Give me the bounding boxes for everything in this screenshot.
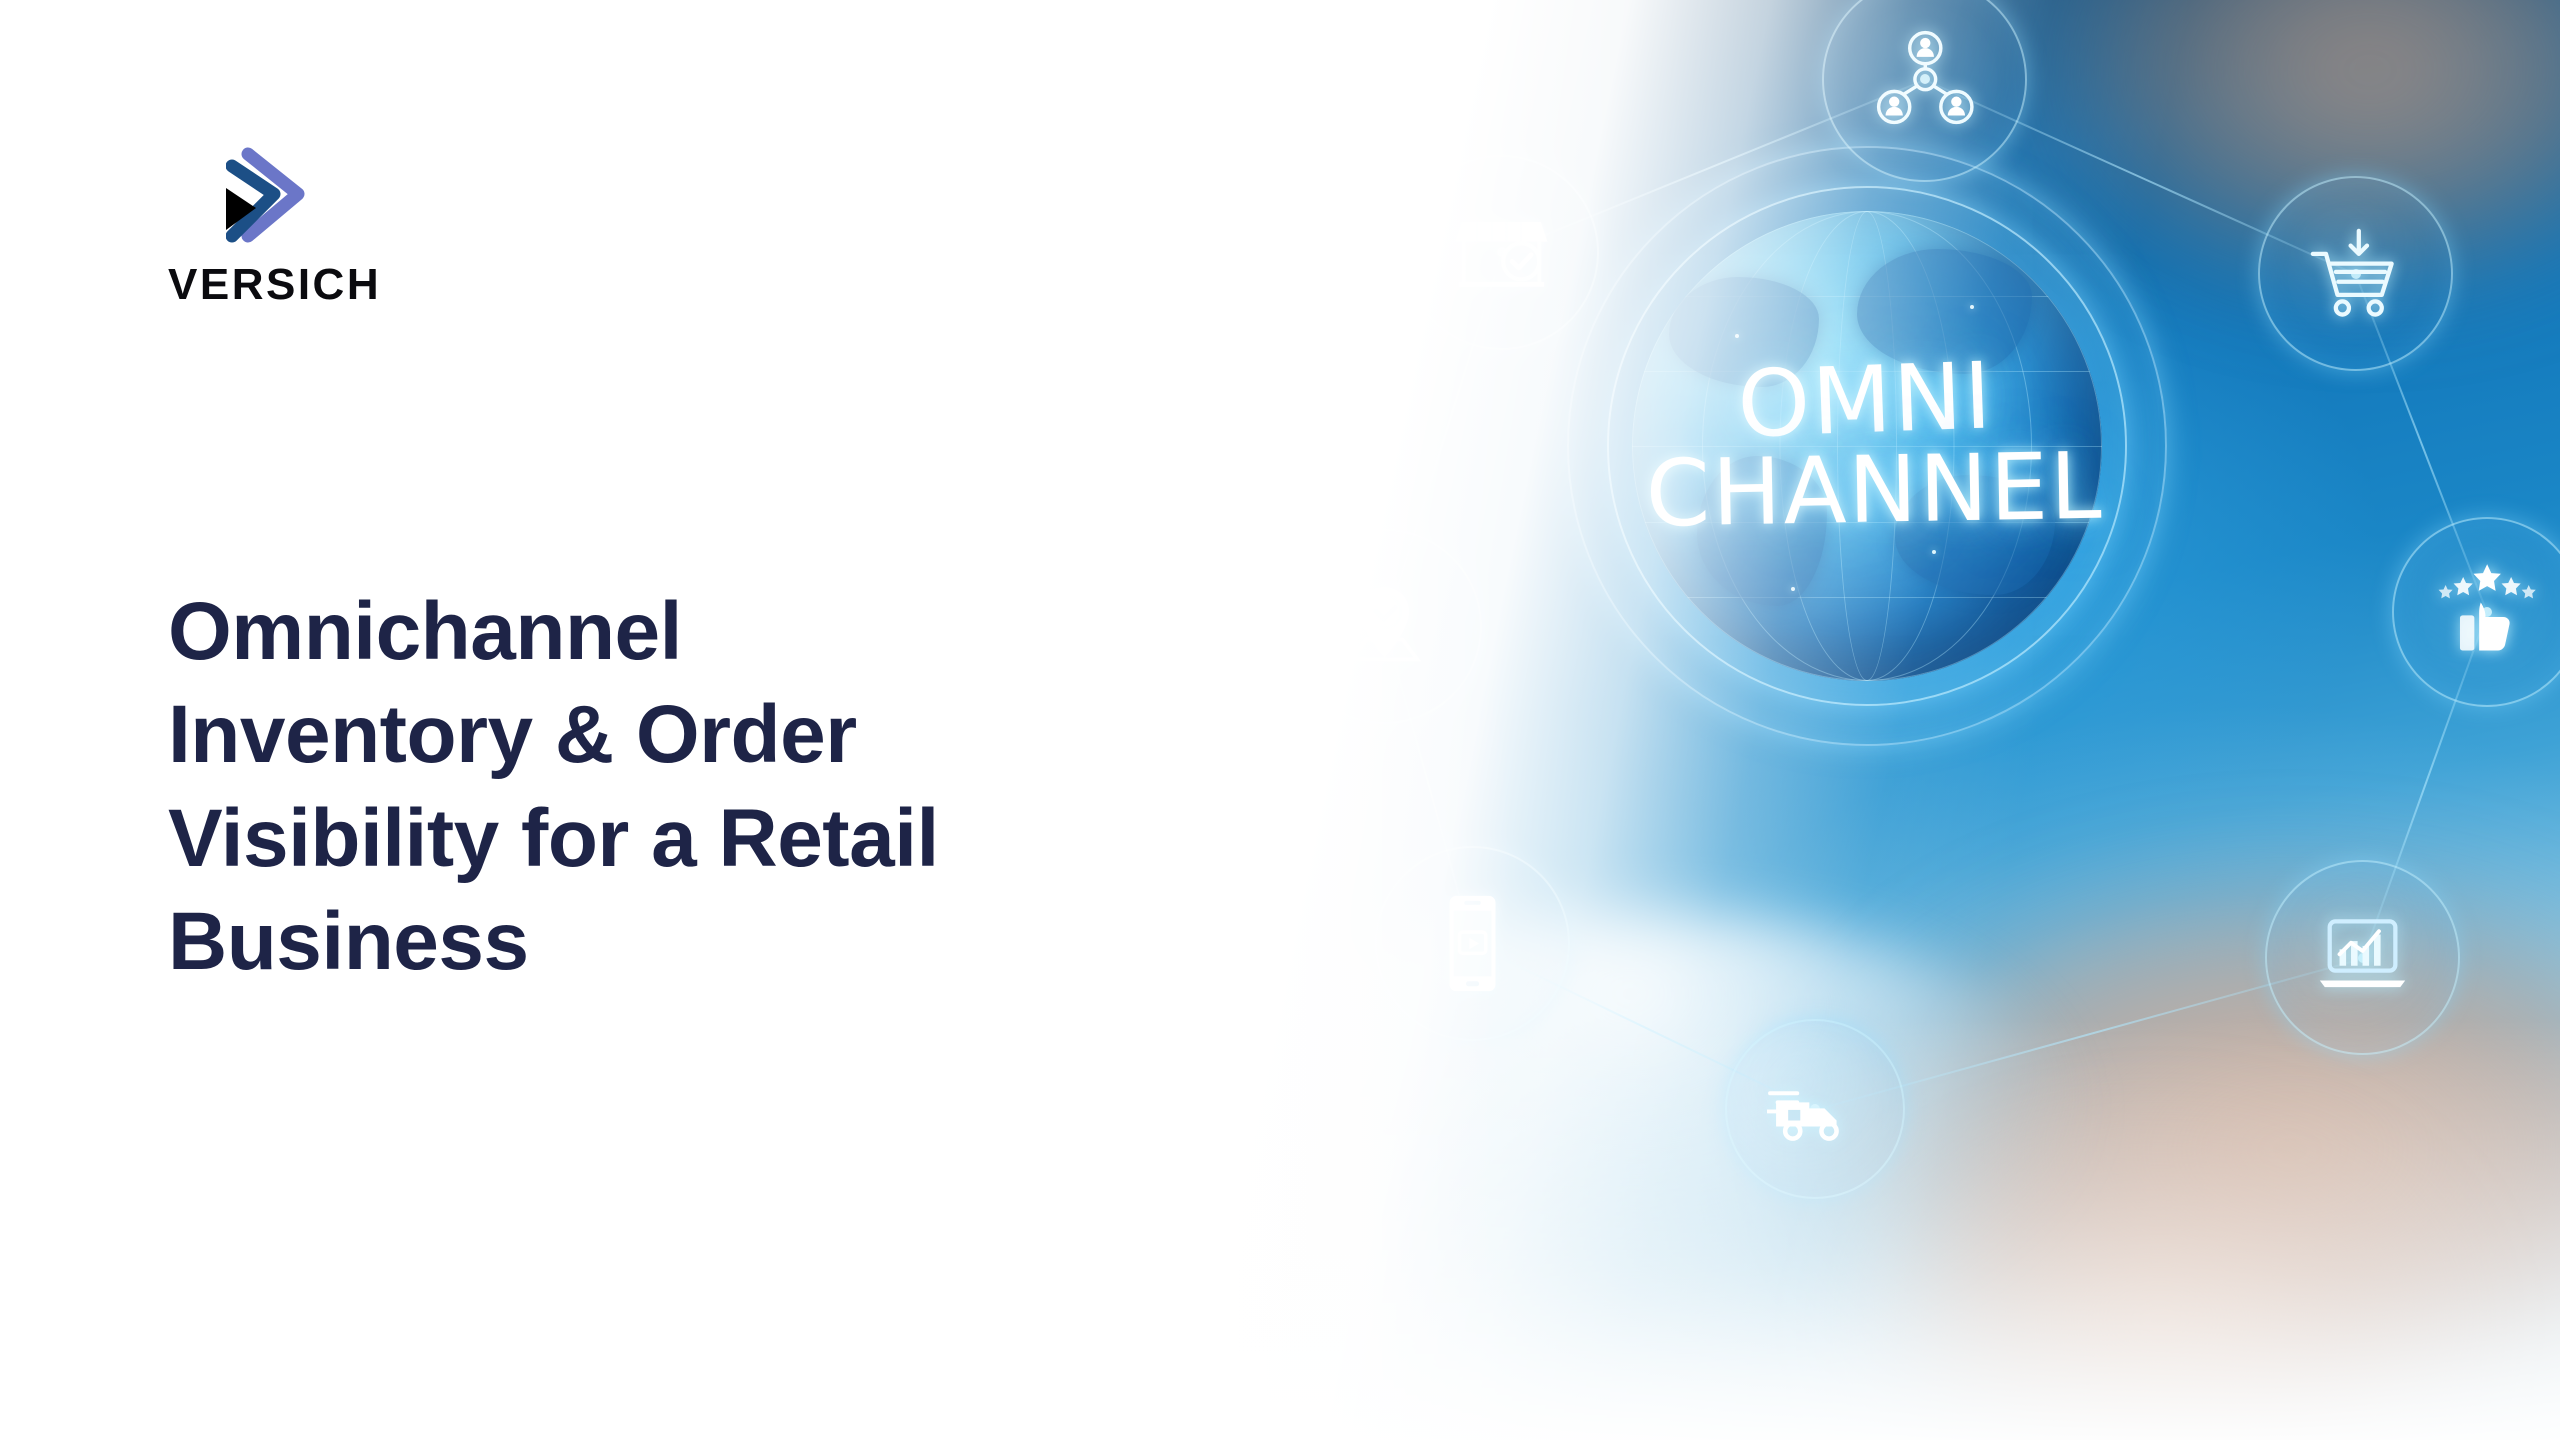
page-title: Omnichannel Inventory & Order Visibility… [168, 580, 1288, 993]
shopping-cart-download-icon [2303, 221, 2408, 326]
laptop-analytics-icon [2310, 905, 2415, 1010]
palm-glow [1180, 910, 2080, 1330]
headline-line-1: Omnichannel [168, 580, 1288, 683]
node-store-locator [1287, 529, 1482, 724]
headline-line-2: Inventory & Order [168, 683, 1288, 786]
location-pin-check-icon [1332, 574, 1437, 679]
globe-parallel [1632, 597, 2102, 598]
globe-spark [1791, 587, 1795, 591]
node-online-cart [2258, 176, 2453, 371]
mobile-play-icon [1420, 891, 1525, 996]
omnichannel-globe: OMNI CHANNEL [1557, 136, 2177, 756]
node-customer-rating [2392, 517, 2560, 707]
headline-line-3: Visibility for a Retail [168, 787, 1288, 890]
brand-wordmark: VERSICH [168, 260, 428, 310]
node-storefront-verified [1404, 155, 1599, 350]
storefront-check-icon [1449, 199, 1554, 304]
node-mobile-commerce [1375, 846, 1570, 1041]
users-network-icon [1870, 24, 1981, 135]
globe-parallel [1632, 446, 2102, 447]
node-delivery [1725, 1019, 1905, 1199]
node-sales-analytics [2265, 860, 2460, 1055]
hero-image: OMNI CHANNEL [1100, 0, 2560, 1440]
double-chevron-play-icon [226, 140, 366, 248]
headline-line-4: Business [168, 890, 1288, 993]
brand-logo[interactable]: VERSICH [168, 140, 428, 310]
globe-sphere [1632, 211, 2102, 681]
thumbs-up-stars-icon [2436, 561, 2538, 663]
delivery-truck-icon [1767, 1060, 1864, 1157]
